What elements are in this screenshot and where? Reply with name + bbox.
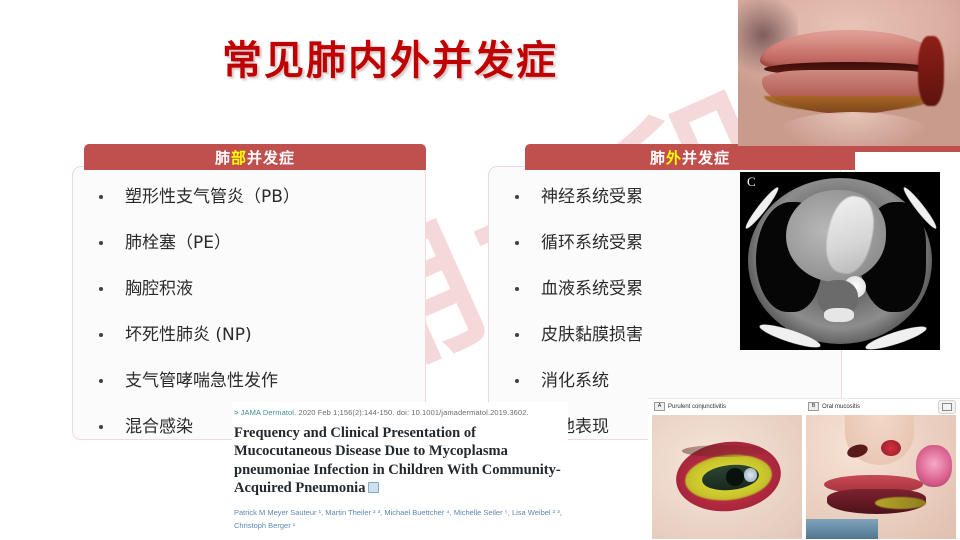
list-item[interactable]: 肺栓塞（PE） (91, 235, 413, 252)
list-item-label: 皮肤黏膜损害 (541, 325, 643, 345)
journal-figure-block: A Purulent conjunctivitis B Oral mucosit… (648, 398, 960, 540)
list-item-label: 消化系统 (541, 371, 609, 391)
list-item[interactable]: 坏死性肺炎 (NP) (91, 327, 413, 344)
eye-lashes (682, 445, 766, 457)
citation-details: . 2020 Feb 1;156(2):144-150. doi: 10.100… (294, 408, 529, 417)
bullet-dot-icon (515, 241, 519, 245)
panel-tag: A (654, 402, 665, 411)
ct-spinous-process (824, 308, 854, 322)
list-item[interactable]: 胸腔积液 (91, 281, 413, 298)
panel-header-left: 肺部并发症 (84, 144, 426, 170)
list-item[interactable]: 塑形性支气管炎（PB） (91, 189, 413, 206)
bullet-list-left: 塑形性支气管炎（PB） 肺栓塞（PE） 胸腔积液 坏死性肺炎 (NP) 支气管哮… (73, 167, 425, 436)
bullet-dot-icon (99, 241, 103, 245)
list-item-label: 肺栓塞（PE） (125, 233, 231, 253)
pubmed-citation-block: > JAMA Dermatol. 2020 Feb 1;156(2):144-1… (232, 402, 568, 540)
figure-caption-bar: A Purulent conjunctivitis B Oral mucosit… (648, 399, 960, 415)
article-title-text: Frequency and Clinical Presentation of M… (234, 425, 561, 496)
list-item-label: 胸腔积液 (125, 279, 193, 299)
panel-header-suffix: 并发症 (247, 147, 295, 168)
bullet-dot-icon (515, 195, 519, 199)
chevron-right-icon: > (234, 408, 238, 417)
panel-header-suffix: 并发症 (682, 147, 730, 168)
bullet-dot-icon (515, 379, 519, 383)
clinical-photo-oral-mucositis (806, 415, 956, 539)
eye-highlight (744, 468, 758, 482)
clinical-photo-purulent-conjunctivitis (652, 415, 802, 539)
panel-header-highlight: 外 (666, 147, 682, 168)
page-title: 常见肺内外并发症 (0, 28, 780, 86)
list-item[interactable]: 消化系统 (507, 373, 829, 390)
panel-header-highlight: 部 (231, 147, 247, 168)
share-icon[interactable] (368, 482, 379, 493)
panel-tag: B (808, 402, 819, 411)
mouth-skin-lesion (916, 445, 952, 487)
panel-header-prefix: 肺 (650, 147, 666, 168)
figure-panel-label-b: B Oral mucositis (808, 402, 860, 411)
window-glyph (942, 403, 952, 411)
window-icon[interactable] (938, 400, 956, 414)
slide-canvas: 试用水印 常见肺内外并发症 塑形性支气管炎（PB） 肺栓塞（PE） 胸腔积液 坏… (0, 0, 960, 540)
bullet-dot-icon (99, 425, 103, 429)
photo-blood (918, 36, 944, 106)
list-item-label: 塑形性支气管炎（PB） (125, 187, 300, 207)
clinical-photo-lip-mucositis (738, 0, 960, 146)
bullet-dot-icon (99, 333, 103, 337)
panel-caption: Purulent conjunctivitis (668, 404, 726, 410)
bullet-dot-icon (99, 287, 103, 291)
list-item-label: 血液系统受累 (541, 279, 643, 299)
figure-images (648, 415, 960, 540)
journal-name[interactable]: JAMA Dermatol (241, 408, 294, 417)
list-item-label: 坏死性肺炎 (NP) (125, 325, 252, 345)
bullet-dot-icon (99, 195, 103, 199)
list-item[interactable]: 支气管哮喘急性发作 (91, 373, 413, 390)
bullet-dot-icon (515, 333, 519, 337)
mouth-clothing (806, 519, 878, 539)
panel-header-prefix: 肺 (215, 147, 231, 168)
list-item-label: 混合感染 (125, 417, 193, 437)
journal-citation-line: > JAMA Dermatol. 2020 Feb 1;156(2):144-1… (234, 408, 568, 417)
eye-pupil (726, 468, 744, 485)
bullet-dot-icon (515, 287, 519, 291)
ct-panel-label: C (747, 174, 756, 190)
list-item-label: 循环系统受累 (541, 233, 643, 253)
chest-ct-image: C (740, 172, 940, 350)
panel-pulmonary-complications: 塑形性支气管炎（PB） 肺栓塞（PE） 胸腔积液 坏死性肺炎 (NP) 支气管哮… (72, 144, 426, 440)
panel-body-left: 塑形性支气管炎（PB） 肺栓塞（PE） 胸腔积液 坏死性肺炎 (NP) 支气管哮… (72, 166, 426, 440)
mouth-nasal-crust (881, 440, 901, 456)
article-title[interactable]: Frequency and Clinical Presentation of M… (234, 424, 568, 497)
figure-panel-label-a: A Purulent conjunctivitis (654, 402, 726, 411)
list-item-label: 神经系统受累 (541, 187, 643, 207)
list-item-label: 支气管哮喘急性发作 (125, 371, 278, 391)
author-list[interactable]: Patrick M Meyer Sauteur ¹, Martin Theile… (234, 506, 568, 532)
bullet-dot-icon (99, 379, 103, 383)
panel-caption: Oral mucositis (822, 404, 860, 410)
photo-chin (778, 112, 928, 146)
accent-stripe (738, 146, 960, 152)
